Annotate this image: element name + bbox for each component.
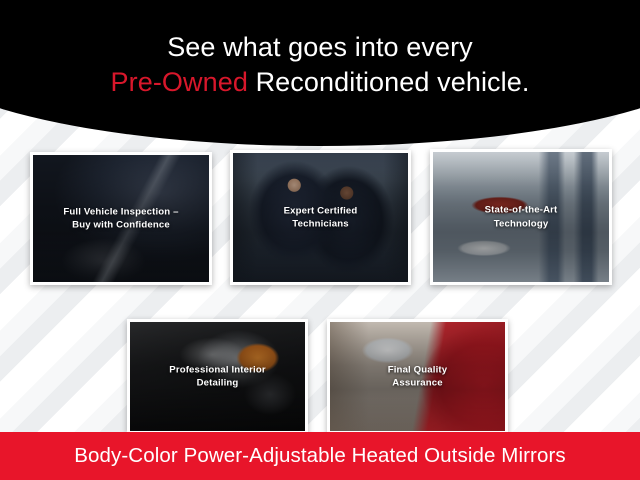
caption-line-2: Technicians bbox=[292, 219, 348, 230]
headline-line-2: Pre-Owned Reconditioned vehicle. bbox=[0, 65, 640, 100]
feature-card-state-of-the-art-technology[interactable]: State-of-the-Art Technology bbox=[430, 149, 612, 285]
caption-line-2: Assurance bbox=[392, 378, 442, 389]
feature-card-professional-interior-detailing[interactable]: Professional Interior Detailing bbox=[127, 319, 308, 434]
feature-card-full-vehicle-inspection[interactable]: Full Vehicle Inspection – Buy with Confi… bbox=[30, 152, 212, 285]
headline-accent-text: Pre-Owned bbox=[111, 67, 248, 97]
caption-line-2: Detailing bbox=[197, 378, 239, 389]
feature-card-caption: State-of-the-Art Technology bbox=[439, 203, 603, 230]
feature-card-final-quality-assurance[interactable]: Final Quality Assurance bbox=[327, 319, 508, 434]
footer-banner-text: Body-Color Power-Adjustable Heated Outsi… bbox=[0, 444, 640, 468]
promo-banner: See what goes into every Pre-Owned Recon… bbox=[0, 0, 640, 480]
feature-card-caption: Expert Certified Technicians bbox=[239, 204, 402, 231]
caption-line-1: Professional Interior bbox=[169, 364, 265, 375]
feature-card-expert-certified-technicians[interactable]: Expert Certified Technicians bbox=[230, 150, 411, 285]
headline-line-2-rest: Reconditioned vehicle. bbox=[248, 67, 529, 97]
feature-card-caption: Full Vehicle Inspection – Buy with Confi… bbox=[39, 205, 203, 232]
feature-card-caption: Final Quality Assurance bbox=[336, 363, 499, 390]
caption-line-1: State-of-the-Art bbox=[485, 204, 558, 215]
caption-line-1: Expert Certified bbox=[284, 205, 358, 216]
feature-card-caption: Professional Interior Detailing bbox=[136, 363, 299, 390]
headline-line-1: See what goes into every bbox=[0, 30, 640, 65]
footer-banner: Body-Color Power-Adjustable Heated Outsi… bbox=[0, 432, 640, 480]
page-title: See what goes into every Pre-Owned Recon… bbox=[0, 30, 640, 100]
caption-line-1: Full Vehicle Inspection – bbox=[63, 206, 178, 217]
caption-line-2: Technology bbox=[494, 218, 549, 229]
caption-line-1: Final Quality bbox=[388, 364, 448, 375]
caption-line-2: Buy with Confidence bbox=[72, 220, 170, 231]
